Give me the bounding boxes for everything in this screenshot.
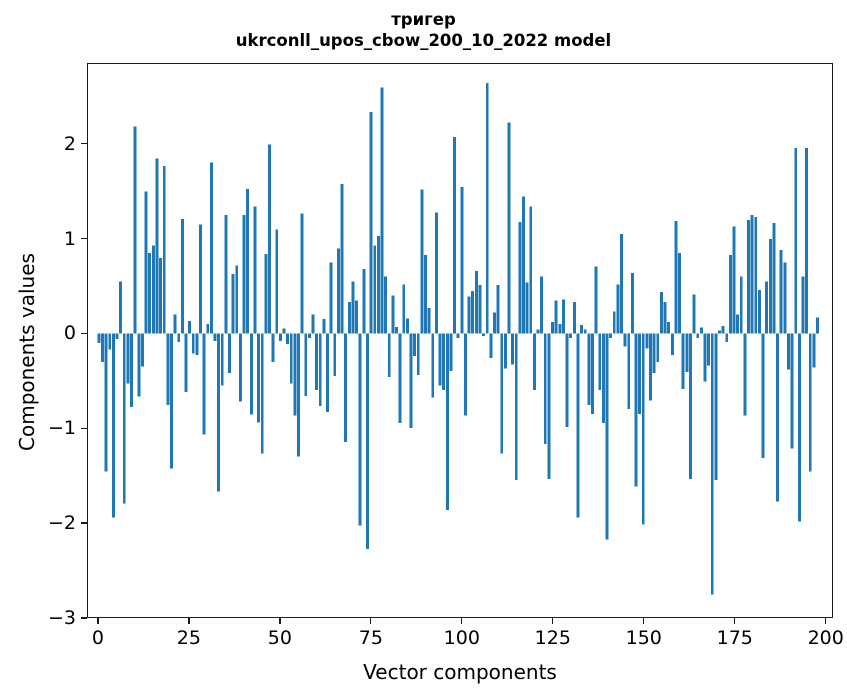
- bar-series: [97, 83, 819, 594]
- bar: [170, 333, 173, 468]
- bar: [221, 333, 224, 385]
- bar: [780, 250, 783, 333]
- bar: [769, 239, 772, 334]
- x-tick-mark: [643, 618, 644, 624]
- bar: [682, 333, 685, 389]
- y-tick-label: 1: [64, 228, 76, 250]
- x-tick-label: 50: [268, 627, 292, 649]
- bar: [195, 333, 198, 355]
- bar: [333, 333, 336, 376]
- bar: [214, 333, 217, 341]
- bar: [468, 297, 471, 334]
- bar: [645, 333, 648, 348]
- bar: [595, 266, 598, 333]
- x-tick-label: 100: [444, 627, 480, 649]
- x-tick-mark: [188, 618, 189, 624]
- bar: [264, 254, 267, 333]
- x-tick-label: 0: [92, 627, 104, 649]
- bar: [802, 277, 805, 334]
- bar: [497, 285, 500, 333]
- bar: [206, 324, 209, 333]
- bar: [743, 333, 746, 415]
- x-axis-label: Vector components: [87, 660, 833, 684]
- bar: [566, 333, 569, 427]
- bar: [370, 112, 373, 333]
- bar: [504, 333, 507, 368]
- bar: [479, 285, 482, 333]
- bar: [406, 318, 409, 333]
- bar: [678, 253, 681, 333]
- bar: [275, 229, 278, 333]
- bar: [217, 333, 220, 491]
- bar: [642, 333, 645, 524]
- bar: [598, 333, 601, 390]
- bar: [442, 333, 445, 390]
- y-tick-label: 2: [64, 133, 76, 155]
- bar: [366, 333, 369, 549]
- bar: [482, 333, 485, 336]
- bar: [159, 258, 162, 334]
- bar: [751, 215, 754, 333]
- bar: [508, 123, 511, 334]
- bar: [126, 333, 129, 383]
- bar: [707, 333, 710, 365]
- bar: [286, 333, 289, 343]
- bar-series-svg: [88, 64, 832, 617]
- bar: [809, 333, 812, 471]
- bar: [163, 166, 166, 333]
- x-tick-mark: [97, 618, 98, 624]
- bar: [449, 333, 452, 371]
- bar: [573, 302, 576, 333]
- bar: [268, 144, 271, 333]
- bar: [119, 281, 122, 333]
- bar: [791, 333, 794, 448]
- bar: [377, 236, 380, 333]
- bar: [373, 245, 376, 333]
- bar: [253, 207, 256, 334]
- bar: [671, 333, 674, 355]
- bar: [312, 315, 315, 334]
- bar: [798, 333, 801, 521]
- bar: [410, 333, 413, 428]
- bar: [558, 324, 561, 333]
- bar: [736, 315, 739, 334]
- bar: [428, 308, 431, 334]
- bar: [555, 300, 558, 333]
- bar: [188, 321, 191, 333]
- bar: [616, 284, 619, 333]
- bar: [420, 190, 423, 334]
- bar: [272, 333, 275, 361]
- bar: [631, 273, 634, 334]
- x-tick-mark: [461, 618, 462, 624]
- bar: [413, 333, 416, 356]
- bar: [156, 159, 159, 334]
- bar: [656, 333, 659, 361]
- y-tick-label: 0: [64, 322, 76, 344]
- figure-canvas: тригер ukrconll_upos_cbow_200_10_2022 mo…: [0, 0, 847, 696]
- bar: [772, 223, 775, 334]
- bar: [348, 302, 351, 333]
- bar: [576, 333, 579, 517]
- bar: [511, 333, 514, 364]
- bar: [453, 137, 456, 334]
- bar: [388, 333, 391, 376]
- bar: [446, 333, 449, 510]
- bar: [816, 317, 819, 333]
- bar: [290, 333, 293, 383]
- bar: [569, 333, 572, 338]
- bar: [337, 248, 340, 333]
- x-tick-label: 200: [808, 627, 844, 649]
- bar: [540, 277, 543, 334]
- bar: [740, 277, 743, 334]
- bar: [493, 313, 496, 334]
- x-tick-mark: [552, 618, 553, 624]
- bar: [319, 333, 322, 406]
- bar: [722, 326, 725, 334]
- y-tick-label: −1: [48, 417, 76, 439]
- bar: [235, 265, 238, 333]
- bar: [116, 333, 119, 339]
- bar: [261, 333, 264, 453]
- bar: [152, 245, 155, 333]
- bar: [609, 333, 612, 338]
- bar: [529, 207, 532, 334]
- bar: [192, 333, 195, 353]
- bar: [533, 333, 536, 390]
- bar: [395, 327, 398, 334]
- bar: [522, 196, 525, 333]
- bar: [257, 333, 260, 422]
- bar: [649, 333, 652, 400]
- bar: [101, 333, 104, 361]
- bar: [620, 234, 623, 333]
- bar: [185, 333, 188, 392]
- bar: [500, 333, 503, 453]
- bar: [355, 300, 358, 333]
- bar: [526, 282, 529, 333]
- bar: [794, 148, 797, 333]
- bar: [341, 184, 344, 333]
- bar: [239, 333, 242, 401]
- bar: [787, 333, 790, 369]
- bar: [391, 296, 394, 334]
- bar: [424, 255, 427, 333]
- bar: [754, 217, 757, 333]
- bar: [660, 292, 663, 334]
- bar: [304, 333, 307, 395]
- y-tick-label: −3: [48, 607, 76, 629]
- bar: [210, 162, 213, 333]
- bar: [141, 333, 144, 366]
- bar: [537, 330, 540, 334]
- bar: [758, 290, 761, 333]
- bar: [464, 333, 467, 415]
- bar: [417, 333, 420, 375]
- bar: [297, 333, 300, 456]
- bar: [177, 333, 180, 342]
- bar: [613, 312, 616, 334]
- bar: [145, 192, 148, 334]
- bar: [137, 333, 140, 396]
- bar: [693, 295, 696, 334]
- bar: [606, 333, 609, 539]
- bar: [689, 333, 692, 479]
- bar: [725, 333, 728, 342]
- x-tick-label: 150: [626, 627, 662, 649]
- bar: [812, 333, 815, 367]
- x-axis-tick-labels: 0255075100125150175200: [87, 627, 833, 653]
- bar: [431, 333, 434, 397]
- bar: [638, 333, 641, 413]
- bar: [624, 333, 627, 346]
- x-axis-tick-marks: [87, 618, 833, 624]
- bar: [486, 83, 489, 334]
- bar: [783, 263, 786, 334]
- bar: [232, 274, 235, 334]
- bar: [762, 333, 765, 458]
- bar: [330, 263, 333, 334]
- bar: [714, 333, 717, 480]
- x-tick-label: 25: [177, 627, 201, 649]
- bar: [243, 215, 246, 333]
- bar: [518, 222, 521, 334]
- bar: [250, 333, 253, 414]
- bar: [515, 333, 518, 480]
- bar: [674, 221, 677, 333]
- bar: [460, 187, 463, 334]
- bar: [805, 148, 808, 333]
- bar: [439, 333, 442, 385]
- bar: [402, 284, 405, 333]
- bar: [551, 322, 554, 333]
- bar: [704, 333, 707, 381]
- bar: [384, 277, 387, 334]
- title-line-2: ukrconll_upos_cbow_200_10_2022 model: [0, 30, 847, 51]
- bar: [301, 213, 304, 333]
- bar: [729, 255, 732, 333]
- bar: [293, 333, 296, 415]
- bar: [653, 333, 656, 373]
- bar: [326, 333, 329, 411]
- bar: [228, 333, 231, 373]
- x-tick-mark: [825, 618, 826, 624]
- bar: [667, 322, 670, 333]
- x-tick-label: 75: [359, 627, 383, 649]
- y-tick-label: −2: [48, 512, 76, 534]
- bar: [362, 269, 365, 333]
- bar: [475, 271, 478, 333]
- bar: [97, 333, 100, 342]
- bar: [381, 88, 384, 334]
- bar: [587, 333, 590, 405]
- bar: [580, 325, 583, 334]
- bar: [435, 212, 438, 333]
- x-tick-label: 175: [717, 627, 753, 649]
- bar: [399, 333, 402, 423]
- x-tick-mark: [370, 618, 371, 624]
- bar: [359, 333, 362, 525]
- bar: [123, 333, 126, 503]
- x-tick-mark: [279, 618, 280, 624]
- title-line-1: тригер: [0, 9, 847, 30]
- bar: [711, 333, 714, 594]
- bar: [308, 333, 311, 338]
- bar: [664, 302, 667, 333]
- x-tick-mark: [734, 618, 735, 624]
- bar: [562, 299, 565, 333]
- bar: [635, 333, 638, 486]
- bar: [584, 330, 587, 334]
- bar: [315, 333, 318, 390]
- bar: [322, 319, 325, 333]
- bar: [700, 328, 703, 334]
- bar: [224, 215, 227, 333]
- bar: [544, 333, 547, 444]
- bar: [112, 333, 115, 517]
- chart-title: тригер ukrconll_upos_cbow_200_10_2022 mo…: [0, 9, 847, 51]
- x-tick-label: 125: [535, 627, 571, 649]
- bar: [602, 333, 605, 423]
- bar: [457, 333, 460, 338]
- bar: [279, 333, 282, 341]
- bar: [105, 333, 108, 471]
- bar: [776, 333, 779, 501]
- bar: [765, 281, 768, 333]
- bar: [166, 333, 169, 405]
- plot-area: [87, 63, 833, 618]
- bar: [547, 333, 550, 479]
- bar: [747, 220, 750, 333]
- bar: [108, 333, 111, 349]
- bar: [696, 333, 699, 338]
- bar: [685, 333, 688, 372]
- y-axis-label: Components values: [15, 92, 39, 612]
- bar: [344, 333, 347, 442]
- bar: [627, 333, 630, 409]
- bar: [489, 333, 492, 358]
- bar: [174, 315, 177, 334]
- bar: [203, 333, 206, 434]
- bar: [351, 281, 354, 333]
- bar: [199, 225, 202, 334]
- bar: [283, 329, 286, 334]
- bar: [246, 189, 249, 334]
- bar: [130, 333, 133, 407]
- bar: [733, 227, 736, 334]
- bar: [471, 291, 474, 334]
- bar: [148, 253, 151, 333]
- bar: [181, 219, 184, 333]
- bar: [718, 331, 721, 334]
- bar: [134, 126, 137, 333]
- bar: [591, 333, 594, 413]
